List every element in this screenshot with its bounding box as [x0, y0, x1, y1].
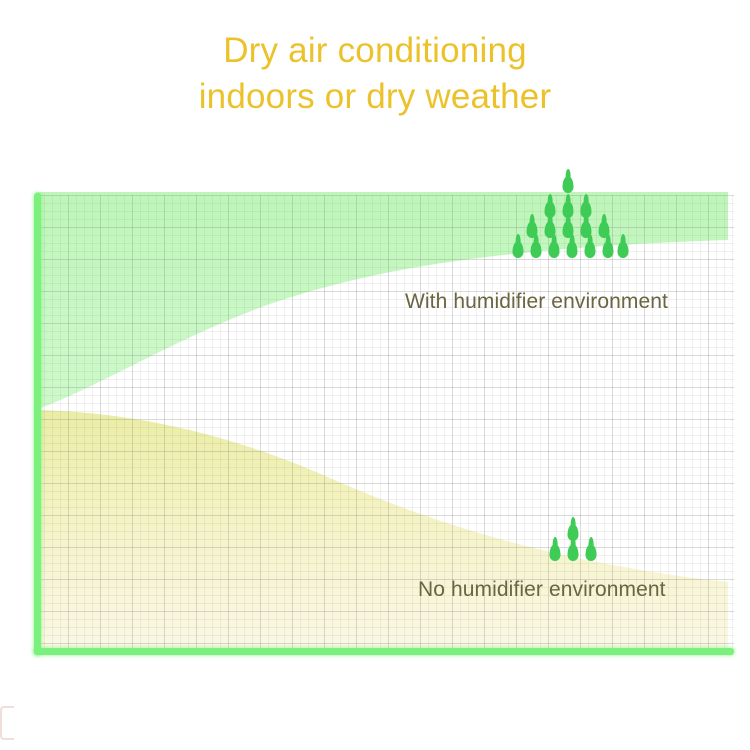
- x-axis: [34, 648, 734, 655]
- water-droplet-icon: [585, 241, 596, 258]
- area-no-humidifier: [36, 410, 728, 652]
- water-droplet-icon: [549, 241, 560, 258]
- humid-droplet-cluster-small: [550, 524, 600, 564]
- label-with-humidifier: With humidifier environment: [405, 290, 668, 314]
- water-droplet-icon: [618, 241, 629, 258]
- water-droplet-icon: [550, 544, 561, 561]
- page-title: Dry air conditioning indoors or dry weat…: [0, 28, 750, 120]
- y-axis: [34, 193, 41, 655]
- label-no-humidifier: No humidifier environment: [418, 578, 666, 602]
- chart-canvas: Dry air conditioning indoors or dry weat…: [0, 0, 750, 750]
- water-droplet-icon: [603, 241, 614, 258]
- water-droplet-icon: [568, 544, 579, 561]
- water-droplet-icon: [586, 544, 597, 561]
- watermark: [0, 706, 14, 740]
- water-droplet-icon: [567, 241, 578, 258]
- humid-droplet-cluster-large: [515, 176, 625, 256]
- water-droplet-icon: [531, 241, 542, 258]
- water-droplet-icon: [513, 241, 524, 258]
- water-droplet-icon: [563, 176, 574, 193]
